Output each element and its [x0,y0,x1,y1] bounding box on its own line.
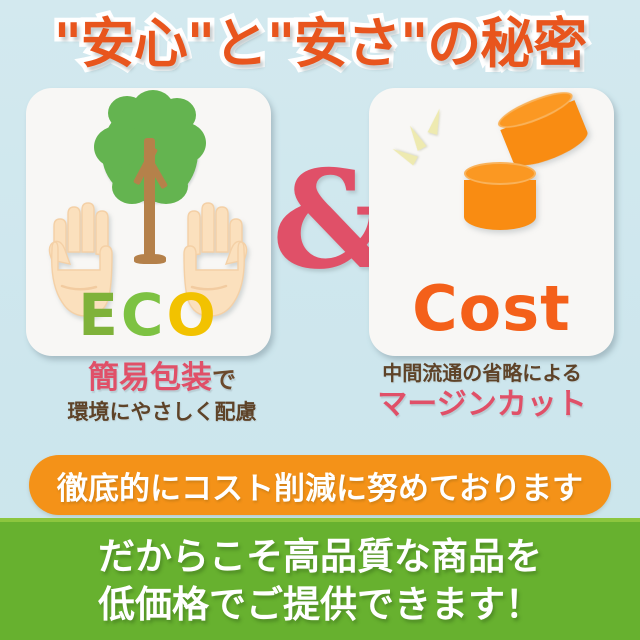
cost-card: Cost [369,88,614,356]
cost-reduction-banner: 徹底的にコスト削減に努めております [29,455,611,515]
cost-caption-topline: 中間流通の省略による [332,360,632,386]
eco-caption-headline-suffix: で [212,366,236,394]
footer-line-1: だからこそ高品質な商品を [98,533,542,581]
spark [405,123,426,151]
eco-caption: 簡易包装で 環境にやさしく配慮 [12,360,312,426]
ampersand-separator: & [272,152,372,287]
coin-top [464,162,536,185]
cost-wordmark: Cost [369,274,614,344]
cost-caption-headline: マージンカット [332,387,632,423]
coin-slice-icon [494,85,591,172]
sparkle-marks-icon [399,108,461,168]
footer-message: だからこそ高品質な商品を 低価格でご提供できます！ [0,518,640,640]
eco-letter-c: C [121,281,167,349]
spark [428,107,445,135]
eco-letter-o: O [166,281,218,349]
coin-body [464,180,536,230]
spark [390,144,418,165]
eco-wordmark: ECO [26,284,271,346]
canopy-lobe [158,98,196,132]
cost-caption: 中間流通の省略による マージンカット [332,360,632,423]
coin-stack-icon [464,162,536,230]
eco-caption-subline: 環境にやさしく配慮 [12,398,312,426]
footer-line-2: 低価格でご提供できます！ [98,581,542,629]
tree-trunk-base [134,254,166,264]
promo-banner: "安心"と"安さ"の秘密 [0,0,640,640]
eco-card: ECO [26,88,271,356]
cost-reduction-banner-text: 徹底的にコスト削減に努めております [57,463,583,508]
eco-caption-headline-main: 簡易包装 [88,360,212,396]
eco-letter-e: E [78,281,121,349]
page-title: "安心"と"安さ"の秘密 [0,6,640,82]
tree-trunk [144,138,155,262]
eco-caption-headline: 簡易包装で [12,360,312,398]
